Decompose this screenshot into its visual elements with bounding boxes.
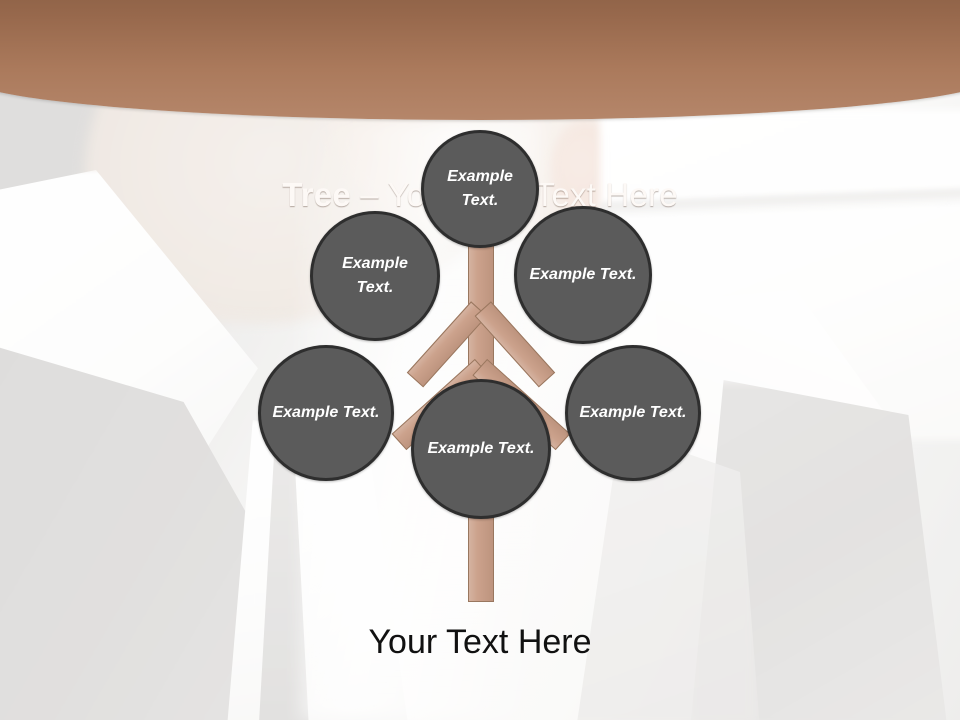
tree-node-upper-right-label: Example Text. — [519, 263, 646, 287]
slide-canvas: Tree – Your Title Text Here Example Text… — [0, 0, 960, 720]
tree-node-lower-left[interactable]: Example Text. — [258, 345, 394, 481]
tree-node-lower-center[interactable]: Example Text. — [411, 379, 551, 519]
tree-diagram: Example Text. Example Text. Example Text… — [0, 0, 960, 720]
tree-node-lower-left-label: Example Text. — [262, 401, 389, 425]
tree-node-upper-left[interactable]: Example Text. — [310, 211, 440, 341]
tree-node-top[interactable]: Example Text. — [421, 130, 539, 248]
tree-node-top-label: Example Text. — [424, 165, 536, 213]
tree-node-lower-right[interactable]: Example Text. — [565, 345, 701, 481]
tree-node-lower-center-label: Example Text. — [417, 437, 544, 461]
tree-node-upper-left-label: Example Text. — [313, 252, 437, 300]
tree-node-upper-right[interactable]: Example Text. — [514, 206, 652, 344]
footer-caption: Your Text Here — [0, 620, 960, 664]
tree-node-lower-right-label: Example Text. — [569, 401, 696, 425]
